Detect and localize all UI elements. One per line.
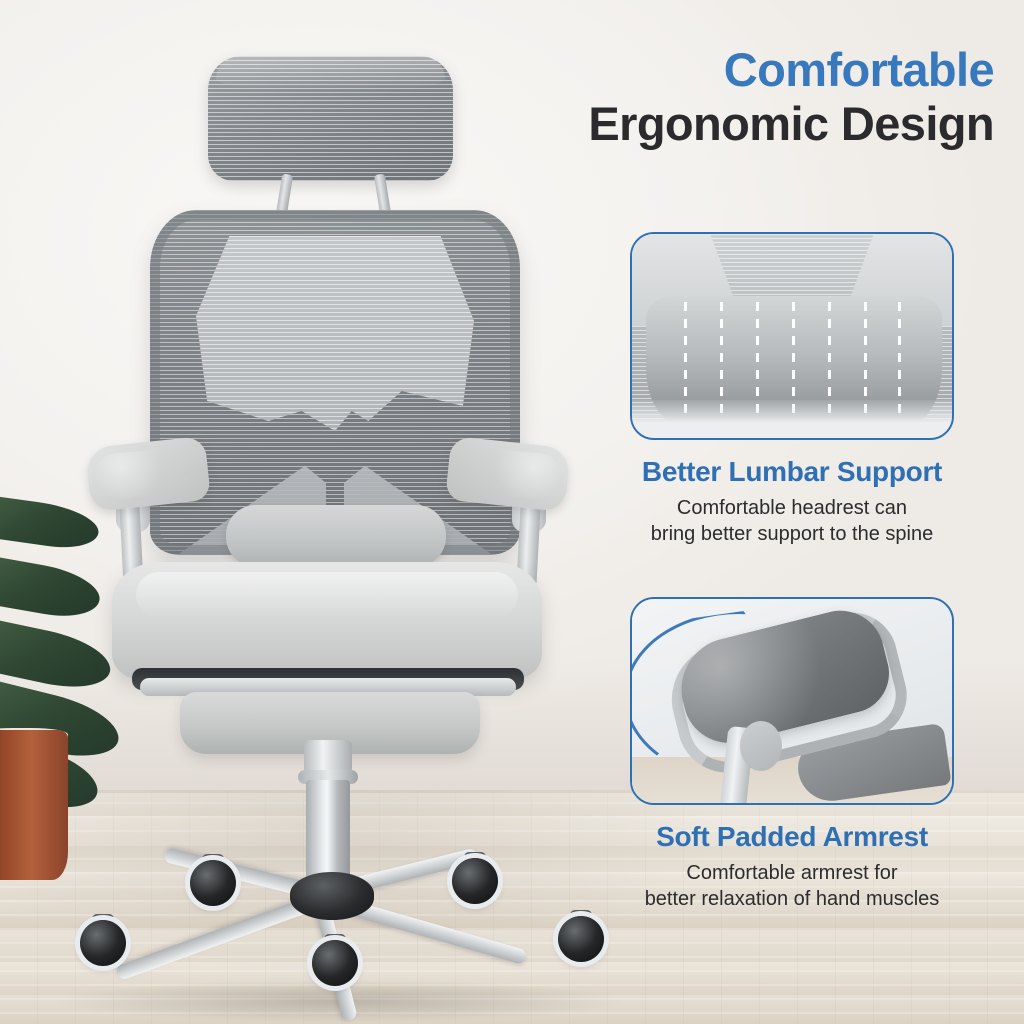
feature-body-armrest: Comfortable armrest for better relaxatio… — [590, 860, 994, 912]
lumbar-pillow — [226, 505, 446, 567]
feature-title-lumbar: Better Lumbar Support — [590, 456, 994, 488]
feature-image-card-armrest — [630, 597, 954, 805]
feature-block-padded-armrest: Soft Padded Armrest Comfortable armrest … — [590, 597, 994, 912]
feature-image-card-lumbar — [630, 232, 954, 440]
caster-wheel — [80, 920, 126, 966]
feature-body-line-2: bring better support to the spine — [651, 523, 933, 545]
feature-body-lumbar: Comfortable headrest can bring better su… — [590, 495, 994, 547]
seat-cushion — [112, 562, 542, 680]
backrest-frame — [150, 210, 520, 555]
feature-body-line-1: Comfortable armrest for — [686, 862, 897, 884]
lumbar-seat-base — [632, 400, 952, 438]
feature-title-armrest: Soft Padded Armrest — [590, 821, 994, 853]
caster-wheel — [312, 940, 358, 986]
feature-body-line-2: better relaxation of hand muscles — [645, 888, 940, 910]
base-hub — [290, 872, 374, 920]
feature-body-line-1: Comfortable headrest can — [677, 497, 907, 519]
padded-armrest-left — [85, 436, 211, 512]
armrest-pivot-disc — [740, 721, 782, 771]
headline-line-1: Comfortable — [470, 46, 994, 93]
caster-wheel — [452, 858, 498, 904]
caster-wheel — [558, 916, 604, 962]
headrest-highlight — [216, 56, 445, 90]
page-headline: Comfortable Ergonomic Design — [470, 46, 994, 150]
mesh-backrest — [150, 210, 520, 555]
padded-armrest-right — [445, 436, 571, 512]
feature-block-lumbar-support: Better Lumbar Support Comfortable headre… — [590, 232, 994, 547]
headline-line-2: Ergonomic Design — [470, 99, 994, 150]
caster-wheel — [190, 860, 236, 906]
cylinder-top — [304, 740, 352, 774]
office-chair-product-photo — [40, 40, 600, 1000]
